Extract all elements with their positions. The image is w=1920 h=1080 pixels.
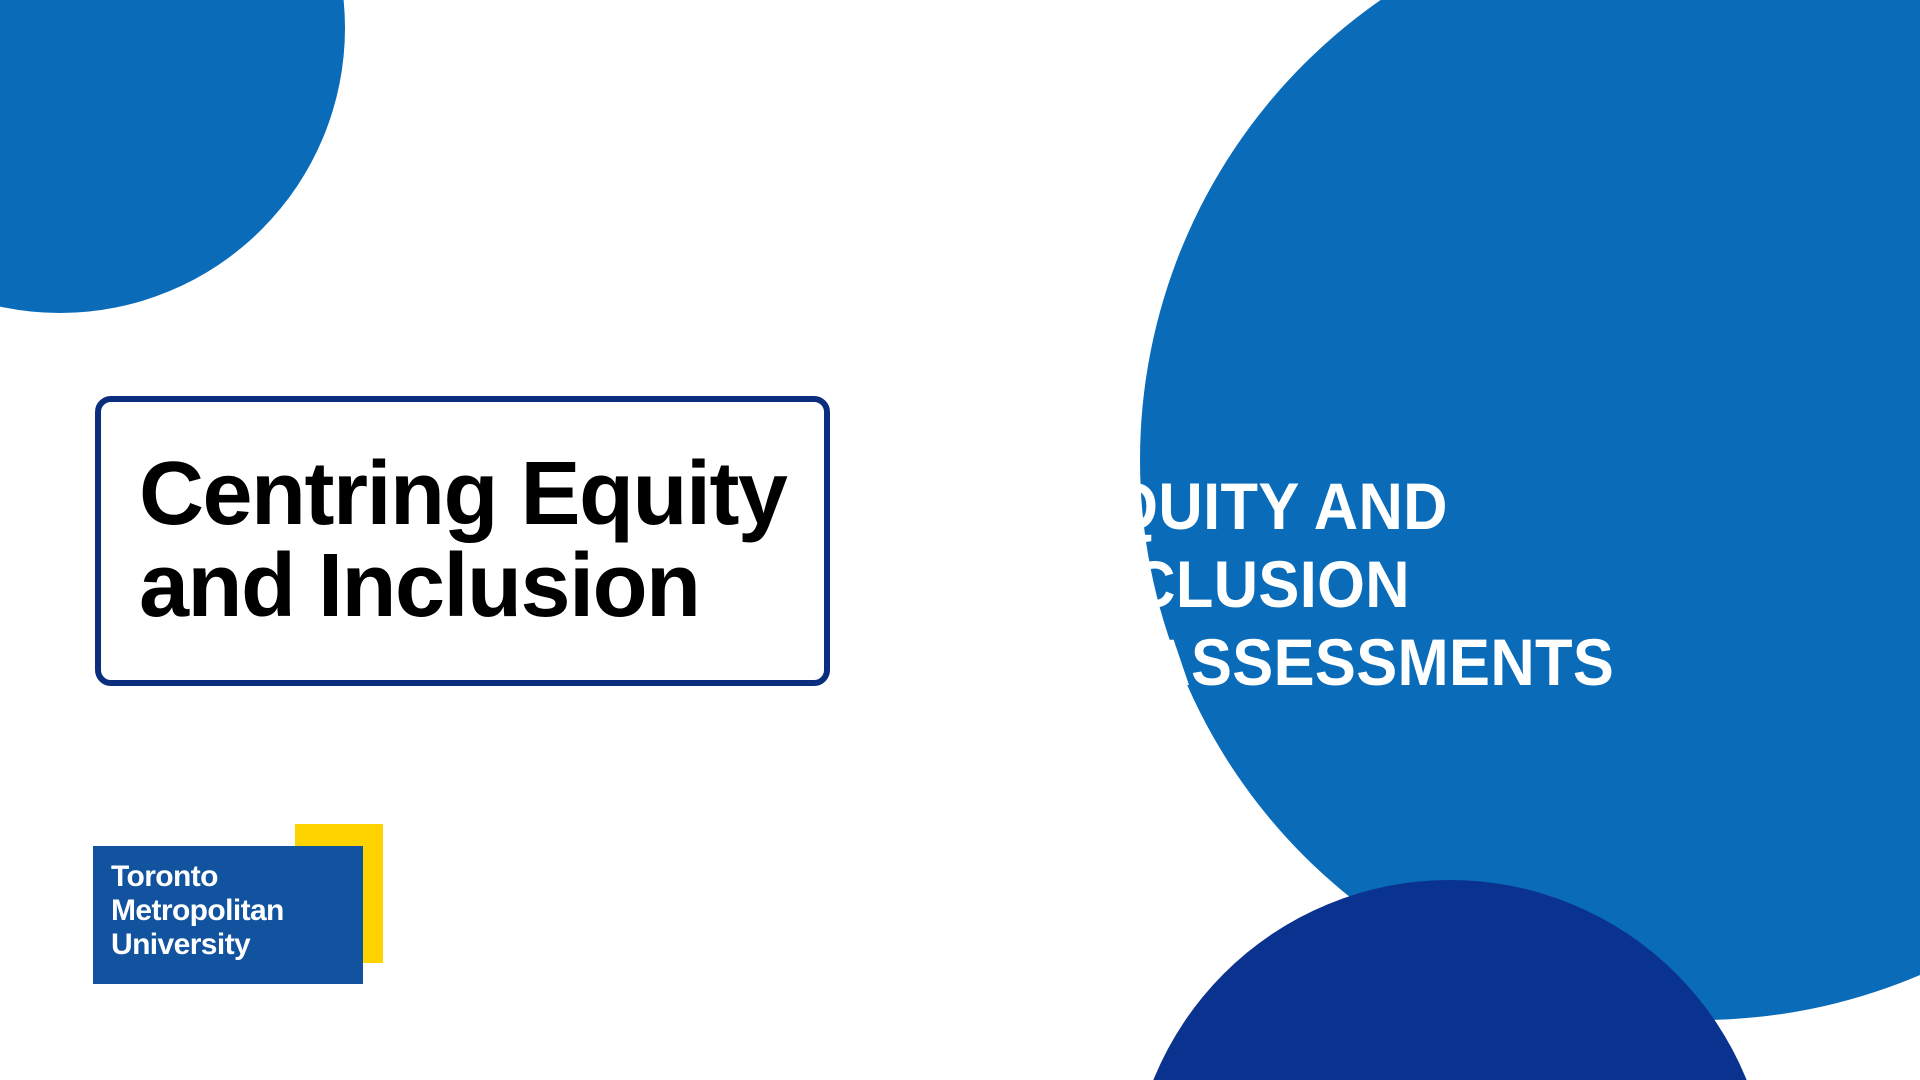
page-title: Centring Equity and Inclusion <box>101 449 787 633</box>
bottom-right-circle-shape <box>1130 880 1770 1080</box>
section-heading: EQUITY AND INCLUSION IN ASSESSMENTS <box>1069 468 1804 702</box>
tmu-logo: Toronto Metropolitan University <box>93 824 385 984</box>
logo-blue-plate: Toronto Metropolitan University <box>93 846 363 984</box>
slide-canvas: Centring Equity and Inclusion EQUITY AND… <box>0 0 1920 1080</box>
logo-wordmark: Toronto Metropolitan University <box>111 860 284 962</box>
title-card: Centring Equity and Inclusion <box>95 396 830 686</box>
top-left-circle-shape <box>0 0 345 313</box>
